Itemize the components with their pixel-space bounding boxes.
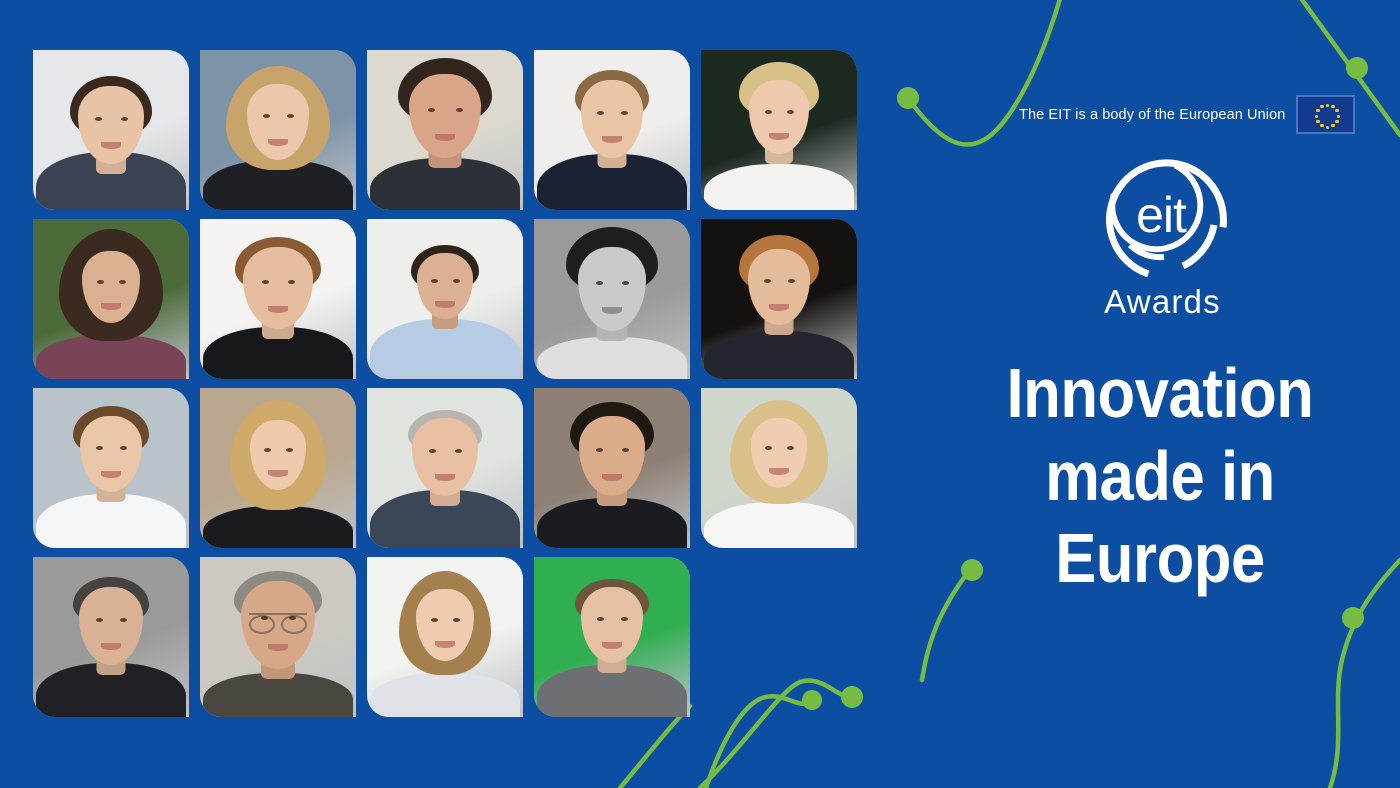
portrait-shoulders [704,331,854,379]
photo-grid-row [33,388,863,548]
portrait-mouth [435,641,455,648]
winner-portrait-tile [200,388,356,548]
portrait-eye [264,448,271,452]
eu-flag-star [1316,120,1319,123]
awards-wordmark: Awards [1075,283,1250,321]
photo-grid-row [33,50,863,210]
portrait-14 [534,388,690,548]
winner-portrait-tile [200,219,356,379]
portrait-mouth [769,304,789,311]
winner-portrait-tile [701,219,857,379]
winner-portrait-tile [33,388,189,548]
portrait-eye [288,280,295,284]
portrait-15 [701,388,857,548]
portrait-eye [597,111,604,115]
portrait-6 [33,219,189,379]
portrait-16 [33,557,189,717]
portrait-3 [367,50,523,210]
portrait-mouth [268,644,288,651]
eu-flag-star [1320,124,1323,127]
branding-column: The EIT is a body of the European Union … [900,0,1400,788]
winner-portrait-tile [367,557,523,717]
portrait-eye [120,618,127,622]
winner-portrait-tile [534,219,690,379]
portrait-eye [621,617,628,621]
portrait-eye [453,279,460,283]
portrait-shoulders [537,337,687,379]
portrait-eye [431,279,438,283]
eit-logo-mark: eit [1088,140,1234,286]
portrait-eye [788,279,795,283]
winner-portrait-tile [33,219,189,379]
portrait-eye [287,114,294,118]
portrait-eye [621,111,628,115]
portrait-mouth [602,474,622,481]
eu-statement-text: The EIT is a body of the European Union [1019,107,1285,123]
winner-portrait-tile [200,557,356,717]
portrait-eye [622,281,629,285]
portrait-mouth [101,303,121,310]
portrait-13 [367,388,523,548]
portrait-mouth [435,301,455,308]
portrait-eye [456,108,463,112]
headline-line-1: Innovation [958,352,1363,435]
eit-awards-poster: The EIT is a body of the European Union … [0,0,1400,788]
portrait-eye [97,280,104,284]
portrait-eye [431,618,438,622]
winners-photo-grid [33,50,863,718]
eu-flag-star [1331,105,1334,108]
photo-grid-row [33,557,863,717]
portrait-mouth [435,474,455,481]
eu-flag-star [1326,126,1329,129]
eu-flag-star [1316,109,1319,112]
portrait-eye [263,114,270,118]
portrait-eye [119,280,126,284]
portrait-mouth [769,133,789,140]
portrait-shoulders [203,673,353,717]
winner-portrait-tile [534,50,690,210]
portrait-eye [787,446,794,450]
eu-flag-star [1335,109,1338,112]
portrait-eye [286,448,293,452]
winner-portrait-tile [534,557,690,717]
portrait-eye [764,279,771,283]
eu-endorsement-line: The EIT is a body of the European Union [1019,95,1355,134]
portrait-mouth [268,306,288,313]
eu-flag-star [1335,120,1338,123]
portrait-10 [701,219,857,379]
portrait-mouth [101,142,121,149]
portrait-shoulders [370,673,520,717]
portrait-shoulders [704,164,854,210]
portrait-mouth [602,307,622,314]
eu-flag-star [1326,104,1329,107]
portrait-19 [534,557,690,717]
portrait-mouth [101,471,121,478]
portrait-shoulders [203,506,353,548]
photo-grid-row [33,219,863,379]
portrait-eye [787,110,794,114]
portrait-5 [701,50,857,210]
headline-line-2: made in [958,435,1363,518]
winner-portrait-tile [33,557,189,717]
winner-portrait-tile [367,388,523,548]
portrait-shoulders [36,335,186,379]
portrait-7 [200,219,356,379]
portrait-18 [367,557,523,717]
portrait-eye [96,446,103,450]
portrait-shoulders [704,502,854,548]
eit-logo-wordmark: eit [1088,190,1234,240]
portrait-mouth [602,136,622,143]
portrait-8 [367,219,523,379]
portrait-eye [121,117,128,121]
portrait-eye [453,618,460,622]
portrait-glasses [249,613,307,631]
winner-portrait-tile [367,219,523,379]
winner-portrait-tile [367,50,523,210]
eu-flag-star [1331,124,1334,127]
portrait-eye [429,449,436,453]
winner-portrait-tile [200,50,356,210]
portrait-11 [33,388,189,548]
page-headline: Innovation made in Europe [958,352,1363,600]
portrait-1 [33,50,189,210]
portrait-eye [262,280,269,284]
eu-flag-star [1320,105,1323,108]
portrait-9 [534,219,690,379]
winner-portrait-tile [33,50,189,210]
portrait-2 [200,50,356,210]
portrait-eye [622,448,629,452]
portrait-eye [455,449,462,453]
portrait-eye [95,117,102,121]
eu-flag-star [1337,115,1340,118]
portrait-17 [200,557,356,717]
portrait-shoulders [36,494,186,548]
portrait-4 [534,50,690,210]
portrait-eye [428,108,435,112]
winner-portrait-tile [701,388,857,548]
portrait-12 [200,388,356,548]
portrait-mouth [268,470,288,477]
portrait-eye [597,617,604,621]
portrait-eye [765,110,772,114]
portrait-eye [765,446,772,450]
curve-lower-left-tail [620,706,690,788]
portrait-eye [596,281,603,285]
portrait-mouth [268,139,288,146]
portrait-eye [596,448,603,452]
portrait-mouth [435,134,455,141]
portrait-mouth [101,643,121,650]
portrait-mouth [769,468,789,475]
european-union-flag-icon [1296,95,1355,134]
eu-flag-star [1315,115,1318,118]
portrait-mouth [602,642,622,649]
headline-line-3: Europe [958,517,1363,600]
portrait-eye [120,446,127,450]
portrait-eye [96,618,103,622]
winner-portrait-tile [701,50,857,210]
winner-portrait-tile [534,388,690,548]
